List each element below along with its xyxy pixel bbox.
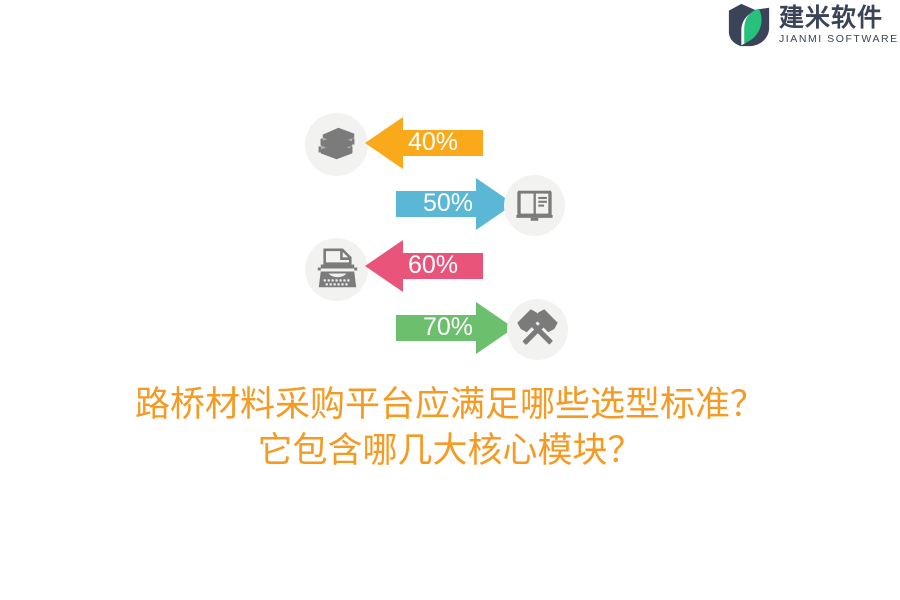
arrow-row-70[interactable]: 70%	[396, 302, 514, 354]
icon-circle-open-book[interactable]	[504, 175, 565, 236]
brand-name-cn: 建米软件	[779, 6, 899, 31]
arrow-row-40[interactable]: 40%	[365, 117, 483, 169]
arrow-label-50: 50%	[423, 189, 473, 218]
brand-name-en: JIANMI SOFTWARE	[779, 34, 899, 45]
typewriter-icon	[305, 238, 368, 301]
open-book-icon	[504, 175, 565, 236]
icon-circle-typewriter[interactable]	[305, 238, 368, 301]
arrow-label-40: 40%	[408, 128, 458, 157]
arrow-label-70: 70%	[423, 313, 473, 342]
page-title-line1: 路桥材料采购平台应满足哪些选型标准？	[0, 382, 900, 428]
icon-circle-books[interactable]	[305, 113, 368, 176]
arrow-row-50[interactable]: 50%	[396, 178, 514, 230]
jianmi-logo-mark-icon	[725, 2, 773, 48]
icon-circle-hammers[interactable]	[507, 299, 568, 360]
percentage-arrow-diagram: 40% 50%	[0, 0, 900, 600]
brand-text: 建米软件 JIANMI SOFTWARE	[779, 6, 899, 45]
page-title: 路桥材料采购平台应满足哪些选型标准？ 它包含哪几大核心模块？	[0, 382, 900, 474]
arrow-label-60: 60%	[408, 251, 458, 280]
books-stack-icon	[305, 113, 368, 176]
crossed-hammers-icon	[507, 299, 568, 360]
arrow-row-60[interactable]: 60%	[365, 240, 483, 292]
brand-logo[interactable]: 建米软件 JIANMI SOFTWARE	[725, 0, 900, 50]
page-title-line2: 它包含哪几大核心模块？	[0, 428, 900, 474]
